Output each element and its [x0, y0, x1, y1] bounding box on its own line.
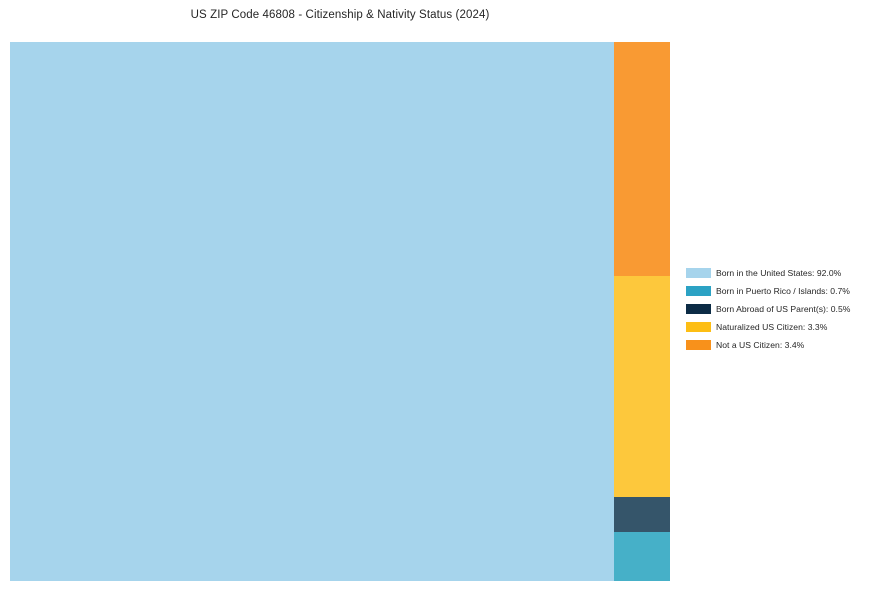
- treemap-tile-born-abroad-of-us-parents[interactable]: [614, 497, 670, 532]
- treemap-tile-born-in-puerto-rico-islands[interactable]: [614, 532, 670, 581]
- legend-label-born-abroad-of-us-parents: Born Abroad of US Parent(s): 0.5%: [716, 304, 850, 314]
- page-title: US ZIP Code 46808 - Citizenship & Nativi…: [0, 9, 680, 21]
- legend-swatch-icon-not-a-us-citizen: [686, 340, 711, 350]
- legend-swatch-icon-born-in-the-united-states: [686, 268, 711, 278]
- legend-item-born-abroad-of-us-parents[interactable]: Born Abroad of US Parent(s): 0.5%: [686, 300, 886, 318]
- legend-swatch-icon-born-in-puerto-rico-islands: [686, 286, 711, 296]
- chart-legend: Born in the United States: 92.0% Born in…: [686, 264, 886, 354]
- legend-label-not-a-us-citizen: Not a US Citizen: 3.4%: [716, 340, 804, 350]
- treemap-plot-area: [10, 42, 670, 581]
- legend-item-born-in-the-united-states[interactable]: Born in the United States: 92.0%: [686, 264, 886, 282]
- legend-swatch-icon-naturalized-us-citizen: [686, 322, 711, 332]
- chart-figure: US ZIP Code 46808 - Citizenship & Nativi…: [0, 0, 889, 590]
- treemap-tile-born-in-the-united-states[interactable]: [10, 42, 614, 581]
- legend-label-born-in-the-united-states: Born in the United States: 92.0%: [716, 268, 841, 278]
- legend-label-naturalized-us-citizen: Naturalized US Citizen: 3.3%: [716, 322, 827, 332]
- legend-swatch-icon-born-abroad-of-us-parents: [686, 304, 711, 314]
- legend-item-born-in-puerto-rico-islands[interactable]: Born in Puerto Rico / Islands: 0.7%: [686, 282, 886, 300]
- legend-label-born-in-puerto-rico-islands: Born in Puerto Rico / Islands: 0.7%: [716, 286, 850, 296]
- treemap-tile-not-a-us-citizen[interactable]: [614, 42, 670, 276]
- treemap-tile-naturalized-us-citizen[interactable]: [614, 276, 670, 497]
- legend-item-not-a-us-citizen[interactable]: Not a US Citizen: 3.4%: [686, 336, 886, 354]
- legend-item-naturalized-us-citizen[interactable]: Naturalized US Citizen: 3.3%: [686, 318, 886, 336]
